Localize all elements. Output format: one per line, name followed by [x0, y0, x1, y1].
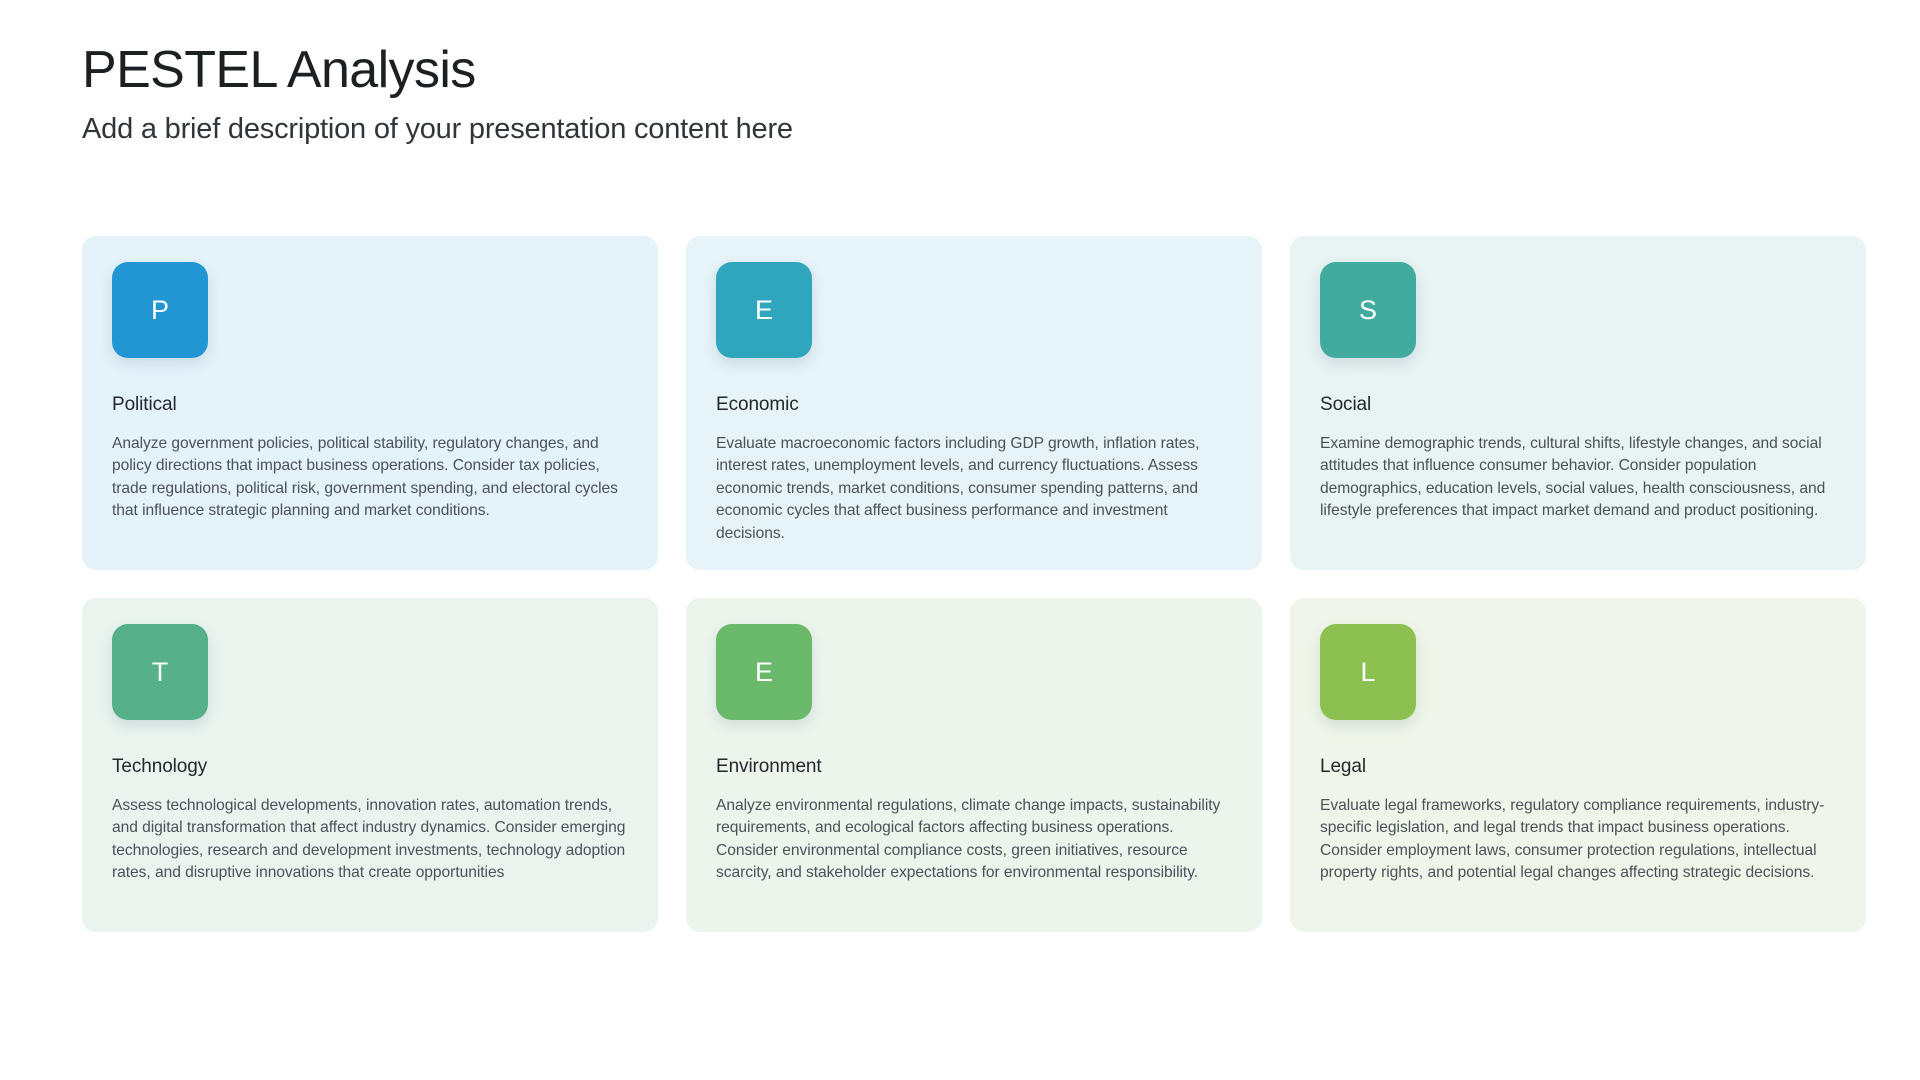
letter-badge-t: T [112, 624, 208, 720]
pestel-card-social[interactable]: S Social Examine demographic trends, cul… [1290, 236, 1866, 570]
letter-badge-s: S [1320, 262, 1416, 358]
card-body: Analyze environmental regulations, clima… [716, 795, 1230, 885]
letter-badge-e-environment: E [716, 624, 812, 720]
slide-header: PESTEL Analysis Add a brief description … [82, 42, 1582, 147]
letter-badge-e-economic: E [716, 262, 812, 358]
pestel-card-grid: P Political Analyze government policies,… [82, 236, 1864, 932]
badge-letter: E [755, 297, 773, 324]
card-body: Evaluate legal frameworks, regulatory co… [1320, 795, 1834, 885]
letter-badge-p: P [112, 262, 208, 358]
card-body: Examine demographic trends, cultural shi… [1320, 433, 1834, 523]
letter-badge-l: L [1320, 624, 1416, 720]
card-title: Social [1320, 394, 1834, 416]
card-title: Legal [1320, 756, 1834, 778]
card-title: Political [112, 394, 626, 416]
pestel-card-environment[interactable]: E Environment Analyze environmental regu… [686, 598, 1262, 932]
card-body: Evaluate macroeconomic factors including… [716, 433, 1230, 545]
badge-letter: L [1360, 659, 1375, 686]
card-title: Technology [112, 756, 626, 778]
pestel-card-legal[interactable]: L Legal Evaluate legal frameworks, regul… [1290, 598, 1866, 932]
page-title: PESTEL Analysis [82, 42, 1582, 98]
pestel-card-political[interactable]: P Political Analyze government policies,… [82, 236, 658, 570]
slide-root: PESTEL Analysis Add a brief description … [0, 0, 1920, 1080]
card-body: Assess technological developments, innov… [112, 795, 626, 885]
card-title: Economic [716, 394, 1230, 416]
card-title: Environment [716, 756, 1230, 778]
badge-letter: P [151, 297, 169, 324]
pestel-card-technology[interactable]: T Technology Assess technological develo… [82, 598, 658, 932]
badge-letter: S [1359, 297, 1377, 324]
pestel-card-economic[interactable]: E Economic Evaluate macroeconomic factor… [686, 236, 1262, 570]
badge-letter: T [152, 659, 169, 686]
page-subtitle: Add a brief description of your presenta… [82, 112, 1582, 147]
badge-letter: E [755, 659, 773, 686]
card-body: Analyze government policies, political s… [112, 433, 626, 523]
